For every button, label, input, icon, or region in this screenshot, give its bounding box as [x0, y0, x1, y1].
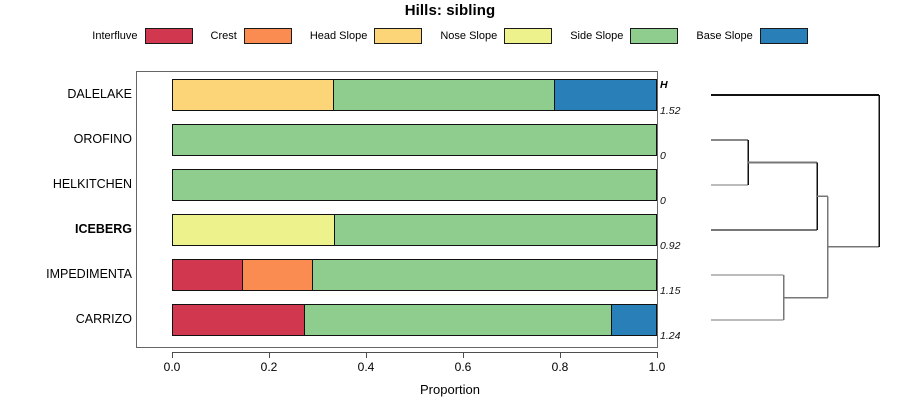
category-label-carrizo: CARRIZO — [14, 313, 132, 326]
category-label-iceberg: ICEBERG — [14, 223, 132, 236]
legend-item-label: Base Slope — [696, 30, 752, 42]
x-tick-label: 0.2 — [261, 360, 278, 374]
legend-swatch — [504, 28, 552, 44]
h-column: H1.52000.921.151.24 — [660, 71, 700, 348]
h-column-header: H — [660, 79, 694, 91]
h-value: 0.92 — [660, 240, 696, 252]
x-tick — [172, 352, 173, 358]
legend-swatch — [760, 28, 808, 44]
x-tick-label: 0.8 — [552, 360, 569, 374]
legend-item[interactable]: Nose Slope — [440, 28, 552, 44]
legend-item-label: Head Slope — [310, 30, 368, 42]
x-tick — [269, 352, 270, 358]
x-tick-label: 1.0 — [649, 360, 666, 374]
x-tick-label: 0.0 — [164, 360, 181, 374]
x-tick — [657, 352, 658, 358]
legend: InterfluveCrestHead SlopeNose SlopeSide … — [0, 26, 900, 46]
legend-item[interactable]: Interfluve — [92, 28, 192, 44]
x-tick — [560, 352, 561, 358]
h-value: 0 — [660, 150, 696, 162]
legend-swatch — [630, 28, 678, 44]
legend-item[interactable]: Crest — [211, 28, 292, 44]
h-value: 1.24 — [660, 330, 696, 342]
h-value: 1.15 — [660, 285, 696, 297]
x-axis-title: Proportion — [0, 382, 900, 397]
h-value: 1.52 — [660, 105, 696, 117]
dendrogram-svg — [700, 71, 898, 348]
legend-item[interactable]: Side Slope — [570, 28, 678, 44]
legend-item-label: Side Slope — [570, 30, 623, 42]
page-title: Hills: sibling — [0, 2, 900, 19]
x-tick — [366, 352, 367, 358]
legend-swatch — [374, 28, 422, 44]
x-axis-line — [172, 352, 658, 353]
x-tick — [463, 352, 464, 358]
legend-item-label: Nose Slope — [440, 30, 497, 42]
legend-item-label: Crest — [211, 30, 237, 42]
x-tick-label: 0.6 — [455, 360, 472, 374]
legend-swatch — [244, 28, 292, 44]
plot-panel — [136, 71, 658, 348]
category-label-dalelake: DALELAKE — [14, 88, 132, 101]
legend-swatch — [145, 28, 193, 44]
x-tick-label: 0.4 — [358, 360, 375, 374]
legend-item-label: Interfluve — [92, 30, 137, 42]
category-label-helkitchen: HELKITCHEN — [14, 178, 132, 191]
legend-item[interactable]: Base Slope — [696, 28, 807, 44]
category-label-orofino: OROFINO — [14, 133, 132, 146]
legend-item[interactable]: Head Slope — [310, 28, 423, 44]
dendrogram — [700, 71, 898, 348]
category-axis-labels: DALELAKEOROFINOHELKITCHENICEBERGIMPEDIME… — [10, 71, 132, 348]
h-value: 0 — [660, 195, 696, 207]
category-label-impedimenta: IMPEDIMENTA — [14, 268, 132, 281]
